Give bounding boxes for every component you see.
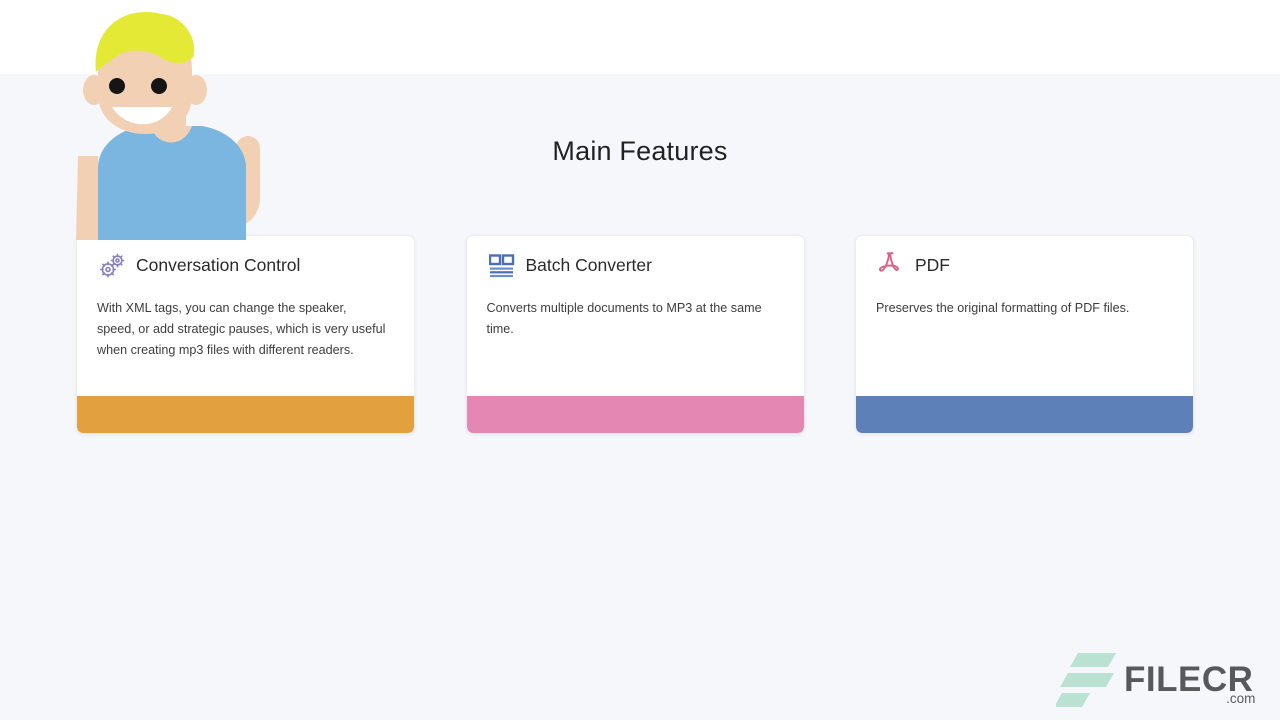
card-header: PDF [856, 236, 1193, 282]
card-title: Batch Converter [526, 257, 652, 275]
card-accent-bar [467, 396, 804, 433]
filecr-watermark: FILECR .com [1056, 648, 1256, 710]
batch-converter-icon [487, 251, 517, 281]
gears-icon [97, 251, 127, 281]
card-accent-bar [856, 396, 1193, 433]
card-title: PDF [915, 257, 950, 275]
feature-card-batch-converter[interactable]: Batch Converter Converts multiple docume… [466, 235, 805, 434]
filecr-tld: .com [1226, 692, 1255, 706]
feature-card-pdf[interactable]: PDF Preserves the original formatting of… [855, 235, 1194, 434]
filecr-logo-mark [1056, 651, 1120, 707]
card-title: Conversation Control [136, 257, 300, 275]
pdf-acrobat-icon [876, 251, 906, 281]
card-header: Batch Converter [467, 236, 804, 282]
feature-cards-row: Conversation Control With XML tags, you … [76, 235, 1194, 435]
pointing-boy-illustration [70, 8, 300, 240]
card-accent-bar [77, 396, 414, 433]
feature-card-conversation-control[interactable]: Conversation Control With XML tags, you … [76, 235, 415, 434]
card-header: Conversation Control [77, 236, 414, 282]
filecr-wordmark: FILECR .com [1124, 651, 1253, 707]
